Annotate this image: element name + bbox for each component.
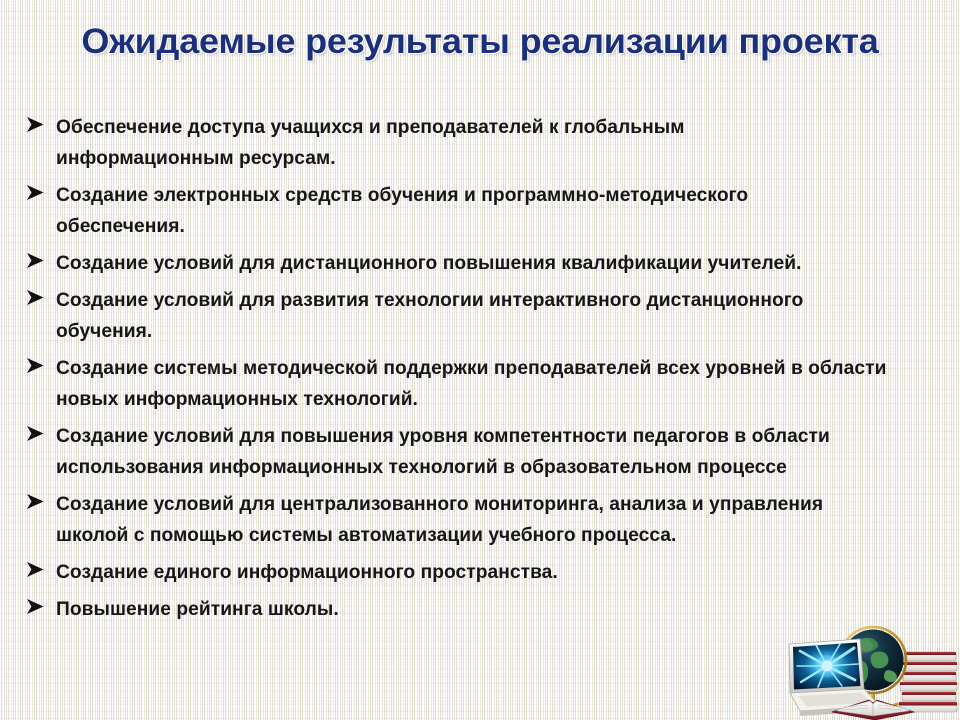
list-item: Обеспечение доступа учащихся и преподава… [26, 112, 938, 174]
list-item-label: Создание условий для централизованного м… [56, 489, 874, 551]
arrowhead-right-icon [26, 285, 56, 306]
arrowhead-right-icon [26, 248, 56, 269]
presentation-slide: Ожидаемые результаты реализации проекта … [0, 0, 960, 720]
arrowhead-right-icon [26, 353, 56, 374]
arrowhead-right-icon [26, 180, 56, 201]
list-item-label: Создание единого информационного простра… [56, 557, 925, 588]
arrowhead-right-icon [26, 421, 56, 442]
list-item: Создание единого информационного простра… [26, 557, 938, 588]
list-item-label: Создание условий для развития технологии… [56, 285, 903, 347]
list-item-label: Создание системы методической поддержки … [56, 353, 888, 415]
list-item: Создание условий для дистанционного повы… [26, 248, 938, 279]
bullet-list: Обеспечение доступа учащихся и преподава… [26, 112, 938, 631]
arrowhead-right-icon [26, 557, 56, 578]
arrowhead-right-icon [26, 112, 56, 133]
book-stack-icon [899, 652, 957, 712]
list-item: Создание условий для повышения уровня ко… [26, 421, 938, 483]
list-item-label: Создание электронных средств обучения и … [56, 180, 849, 242]
list-item-label: Создание условий для повышения уровня ко… [56, 421, 849, 483]
list-item: Создание условий для развития технологии… [26, 285, 938, 347]
arrowhead-right-icon [26, 489, 56, 510]
list-item-label: Создание условий для дистанционного повы… [56, 248, 925, 279]
list-item: Создание системы методической поддержки … [26, 353, 938, 415]
education-technology-clipart [776, 608, 960, 720]
slide-title-area: Ожидаемые результаты реализации проекта [0, 22, 960, 62]
page-title: Ожидаемые результаты реализации проекта [81, 22, 878, 62]
list-item-label: Обеспечение доступа учащихся и преподава… [56, 112, 780, 174]
list-item: Создание электронных средств обучения и … [26, 180, 938, 242]
arrowhead-right-icon [26, 594, 56, 615]
list-item: Создание условий для централизованного м… [26, 489, 938, 551]
